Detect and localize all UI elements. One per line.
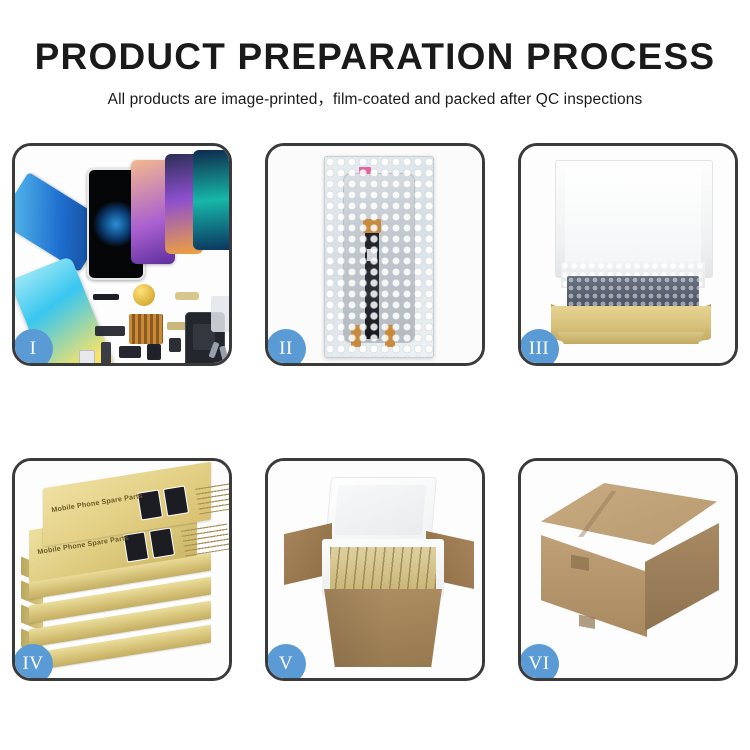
step-badge-4: IV (13, 644, 53, 681)
carton-top-icon (541, 483, 717, 545)
flex-strip-icon (365, 227, 379, 339)
part-connector-icon (101, 342, 111, 363)
step-numeral: V (279, 653, 293, 675)
step-numeral: III (529, 338, 549, 360)
screw-grid-icon (129, 314, 163, 344)
page-title: PRODUCT PREPARATION PROCESS (0, 38, 750, 77)
teal-phone-icon (193, 150, 229, 250)
speaker-coil-icon (133, 284, 155, 306)
foam-lid-inner-icon (334, 485, 426, 535)
step-numeral: I (30, 338, 37, 360)
step-panel-4: Mobile Phone Spare Parts Mobile Phone Sp… (12, 458, 232, 681)
phone-screens-and-spare-parts-photo (15, 146, 229, 363)
step-numeral: VI (528, 653, 549, 675)
stacked-spare-parts-boxes-photo: Mobile Phone Spare Parts Mobile Phone Sp… (15, 461, 229, 678)
step-panel-2: II (265, 143, 485, 366)
small-part-icon (169, 338, 181, 352)
foam-lid-inner-icon (565, 168, 701, 266)
bubble-bag-icon (324, 156, 434, 358)
process-steps-grid: I II (12, 143, 738, 737)
step-badge-2: II (266, 329, 306, 366)
box-thumbnail-icon (163, 485, 189, 516)
step-numeral: II (279, 338, 293, 360)
step-panel-1: I (12, 143, 232, 366)
sealed-shipping-carton-photo (521, 461, 735, 678)
box-stack-icon: Mobile Phone Spare Parts Mobile Phone Sp… (21, 475, 225, 671)
box-thumbnail-icon (149, 527, 175, 558)
flex-pad-icon (363, 219, 381, 233)
step-panel-6: VI (518, 458, 738, 681)
sim-tray-icon (79, 350, 95, 363)
carton-with-foam-liner-photo (268, 461, 482, 678)
page-subtitle: All products are image-printed，film-coat… (0, 87, 750, 109)
driver-chip-icon (367, 249, 377, 261)
pink-seal-tab-icon (359, 167, 371, 174)
bubble-wrapped-contents-icon (567, 276, 699, 310)
step-badge-3: III (519, 329, 559, 366)
step-badge-6: VI (519, 644, 559, 681)
tool-kit-icon (211, 296, 229, 332)
camera-module-icon (147, 344, 161, 360)
step-panel-5: V (265, 458, 485, 681)
connector-right-icon (385, 325, 395, 347)
product-preparation-page: PRODUCT PREPARATION PROCESS All products… (0, 0, 750, 750)
step-badge-1: I (13, 329, 53, 366)
gold-box-front-icon (551, 332, 711, 344)
step-panel-3: III (518, 143, 738, 366)
page-header: PRODUCT PREPARATION PROCESS All products… (0, 0, 750, 109)
box-spec-lines-icon (181, 524, 229, 557)
packed-gold-boxes-icon (330, 547, 436, 591)
connector-left-icon (351, 325, 361, 347)
carton-shadow-icon (316, 589, 386, 667)
step-numeral: IV (22, 653, 43, 675)
part-strip-icon (93, 294, 119, 300)
bubble-wrapped-lcd-photo (268, 146, 482, 363)
flex-cable-icon (175, 292, 199, 300)
step-badge-5: V (266, 644, 306, 681)
part-module-icon (119, 346, 141, 358)
lcd-screen-icon (343, 173, 415, 343)
open-gold-box-with-foam-photo (521, 146, 735, 363)
part-bracket-icon (95, 326, 125, 336)
